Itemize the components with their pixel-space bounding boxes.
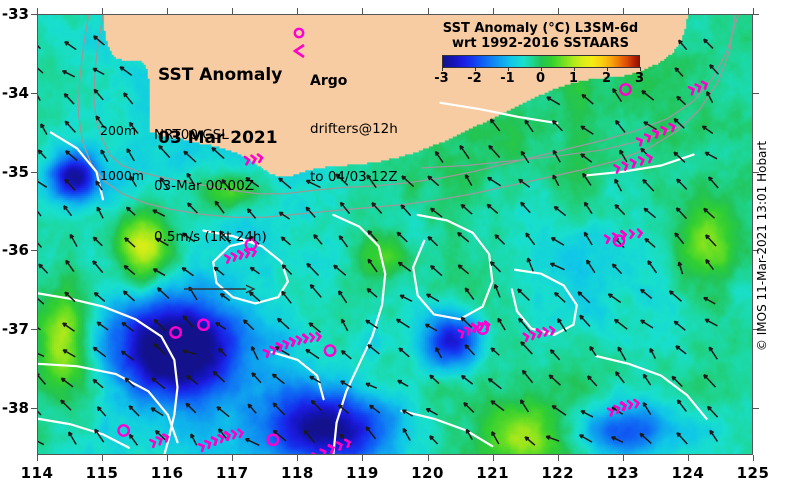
current-vector-arrow bbox=[466, 175, 472, 186]
current-vector-arrow bbox=[677, 179, 687, 189]
current-vector-arrow bbox=[650, 348, 655, 358]
x-tick bbox=[428, 455, 429, 461]
current-vector-arrow bbox=[311, 401, 321, 411]
drifter-track-chevron bbox=[459, 330, 463, 337]
current-vector-arrow bbox=[609, 294, 621, 302]
current-vector-arrow bbox=[38, 238, 41, 248]
current-vector-arrow bbox=[498, 318, 505, 330]
drifter-track-chevron bbox=[329, 445, 333, 452]
current-vector-arrow bbox=[151, 408, 163, 416]
current-vector-arrow bbox=[554, 207, 565, 216]
current-vector-arrow bbox=[129, 406, 139, 416]
current-vector-arrow bbox=[702, 126, 712, 133]
current-vector-arrow bbox=[709, 347, 717, 359]
sst-contour-4 bbox=[512, 270, 577, 335]
current-vector-arrow bbox=[551, 238, 564, 246]
current-vector-arrow bbox=[618, 347, 625, 360]
x-tick-top bbox=[232, 8, 233, 14]
x-tick-top bbox=[688, 8, 689, 14]
current-vector-arrow bbox=[93, 347, 105, 356]
current-vector-arrow bbox=[252, 373, 261, 383]
x-tick-label: 114 bbox=[21, 464, 54, 482]
current-vector-arrow bbox=[186, 403, 196, 413]
current-vector-arrow bbox=[550, 263, 564, 269]
current-vector-arrow bbox=[367, 289, 377, 298]
current-vector-arrow bbox=[38, 437, 44, 444]
x-tick bbox=[493, 455, 494, 461]
current-vector-arrow bbox=[401, 205, 411, 216]
current-vector-arrow bbox=[64, 206, 72, 216]
sst-contour-2 bbox=[333, 215, 385, 454]
current-vector-arrow bbox=[431, 266, 442, 276]
current-vector-arrow bbox=[366, 427, 375, 439]
current-vector-arrow bbox=[397, 232, 407, 242]
argo-float-marker-8 bbox=[118, 425, 128, 435]
current-vector-arrow bbox=[38, 322, 40, 330]
x-tick-top bbox=[623, 8, 624, 14]
current-vector-arrow bbox=[585, 202, 592, 213]
drifter-track-chevron bbox=[239, 430, 243, 437]
current-vector-arrow bbox=[553, 175, 559, 186]
current-vector-arrow bbox=[495, 284, 500, 297]
current-vector-arrow bbox=[428, 176, 439, 185]
current-vector-arrow bbox=[679, 40, 687, 49]
current-vector-arrow bbox=[674, 321, 685, 330]
drifter-track-chevron bbox=[472, 324, 476, 331]
current-vector-arrow bbox=[98, 407, 106, 416]
current-vector-arrow bbox=[641, 320, 653, 328]
current-legend-line2: 03-Mar 00:00Z bbox=[154, 178, 267, 195]
y-tick-right bbox=[753, 93, 759, 94]
current-vector-arrow bbox=[590, 347, 596, 356]
current-vector-arrow bbox=[587, 260, 595, 273]
argo-legend-line3: to 04/03 12Z bbox=[310, 169, 398, 185]
current-vector-arrow bbox=[38, 88, 40, 101]
drifter-track-chevron bbox=[639, 157, 643, 164]
current-vector-arrow bbox=[620, 150, 627, 162]
y-tick bbox=[31, 14, 37, 15]
current-vector-arrow bbox=[38, 405, 41, 415]
current-vector-arrow bbox=[38, 150, 46, 158]
current-vector-arrow bbox=[95, 429, 104, 442]
drifter-track-chevron bbox=[635, 400, 639, 407]
current-vector-arrow bbox=[342, 319, 348, 331]
current-vector-arrow bbox=[430, 375, 439, 383]
current-vector-arrow bbox=[93, 237, 102, 246]
drifter-track-chevron bbox=[212, 437, 216, 444]
current-vector-arrow bbox=[425, 324, 437, 330]
x-tick bbox=[297, 455, 298, 461]
colorbar-tick-label: 1 bbox=[569, 71, 578, 86]
current-vector-arrow bbox=[641, 289, 652, 298]
x-tick-top bbox=[493, 8, 494, 14]
drifter-track-chevron bbox=[317, 333, 321, 340]
current-vector-arrow bbox=[66, 260, 74, 271]
current-vector-arrow bbox=[527, 258, 533, 271]
x-tick-label: 125 bbox=[737, 464, 770, 482]
current-vector-arrow bbox=[152, 378, 165, 388]
current-vector-arrow bbox=[491, 401, 504, 411]
bathymetry-deep-label: 1000m bbox=[100, 168, 144, 183]
current-vector-arrow bbox=[465, 288, 474, 300]
argo-legend-line2: drifters@12h bbox=[310, 121, 398, 137]
y-tick-label: -36 bbox=[0, 241, 29, 259]
drifter-track-chevron bbox=[337, 442, 341, 449]
current-vector-arrow bbox=[677, 96, 686, 104]
current-vector-arrow bbox=[670, 291, 682, 301]
x-tick-label: 124 bbox=[672, 464, 705, 482]
x-tick bbox=[362, 455, 363, 461]
y-tick bbox=[31, 93, 37, 94]
drifter-track-chevron bbox=[689, 87, 693, 94]
sst-anomaly-figure: SST Anomaly 03 Mar 2021 Argo drifters@12… bbox=[0, 0, 791, 492]
y-tick bbox=[31, 408, 37, 409]
colorbar-tick-label: 3 bbox=[635, 71, 644, 86]
current-vector-arrow bbox=[704, 298, 715, 304]
current-vector-arrow bbox=[248, 404, 256, 413]
drifter-track-chevron bbox=[205, 441, 210, 448]
drifter-track-chevron bbox=[631, 160, 635, 167]
current-vector-arrow bbox=[307, 263, 319, 275]
current-vector-arrow bbox=[675, 233, 684, 244]
current-vector-arrow bbox=[154, 344, 165, 354]
colorbar-tick-label: -1 bbox=[500, 71, 514, 86]
current-legend-line1: NRT00 GSL bbox=[154, 127, 267, 144]
current-vector-arrow bbox=[368, 259, 377, 272]
x-tick-top bbox=[102, 8, 103, 14]
current-vector-arrow bbox=[252, 347, 258, 360]
current-vector-arrow bbox=[677, 208, 687, 219]
current-vector-arrow bbox=[426, 409, 437, 415]
drifter-track-chevron bbox=[622, 402, 626, 409]
colorbar-tick-label: -3 bbox=[434, 71, 448, 86]
y-tick-label: -34 bbox=[0, 84, 29, 102]
current-vector-arrow bbox=[93, 261, 103, 273]
current-vector-arrow bbox=[66, 151, 77, 161]
current-vector-arrow bbox=[125, 238, 135, 247]
current-vector-arrow bbox=[123, 291, 134, 301]
bathymetry-shallow-label: 200m bbox=[100, 123, 144, 138]
argo-float-marker-4 bbox=[268, 435, 278, 445]
x-tick-label: 118 bbox=[281, 464, 314, 482]
current-vector-arrow bbox=[93, 379, 103, 387]
x-tick bbox=[232, 455, 233, 461]
current-vector-arrow bbox=[487, 204, 498, 213]
y-tick-label: -38 bbox=[0, 399, 29, 417]
current-vector-arrow bbox=[464, 403, 474, 413]
current-vector-arrow bbox=[518, 289, 530, 300]
current-vector-arrow bbox=[400, 295, 412, 301]
current-vector-arrow bbox=[645, 239, 655, 248]
drifter-track-chevron bbox=[630, 230, 634, 237]
drifter-track-chevron bbox=[628, 401, 632, 408]
current-vector-arrow bbox=[65, 179, 75, 190]
current-vector-arrow bbox=[580, 315, 590, 326]
current-vector-arrow bbox=[705, 319, 717, 326]
drifter-track-8 bbox=[637, 124, 674, 145]
current-vector-arrow bbox=[549, 375, 560, 385]
current-vector-arrow bbox=[339, 236, 347, 247]
x-tick-top bbox=[167, 8, 168, 14]
current-vector-arrow bbox=[63, 350, 75, 357]
argo-float-marker-icon bbox=[295, 29, 303, 37]
current-vector-arrow bbox=[676, 346, 686, 354]
current-vector-arrow bbox=[462, 376, 473, 384]
current-vector-arrow bbox=[122, 323, 134, 332]
current-vector-arrow bbox=[65, 121, 75, 132]
current-vector-arrow bbox=[304, 430, 314, 442]
current-vector-arrow bbox=[581, 126, 593, 134]
current-vector-arrow bbox=[63, 323, 75, 331]
drifter-track-chevron bbox=[608, 409, 612, 416]
x-tick bbox=[558, 455, 559, 461]
current-vector-arrow bbox=[213, 371, 224, 382]
current-vector-arrow bbox=[435, 152, 442, 163]
x-tick-label: 123 bbox=[606, 464, 639, 482]
current-vector-arrow bbox=[398, 262, 410, 271]
current-vector-arrow bbox=[217, 407, 229, 417]
drifter-track-chevron bbox=[284, 341, 288, 348]
current-vector-arrow bbox=[41, 124, 47, 135]
current-vector-arrow bbox=[704, 209, 715, 219]
current-vector-arrow bbox=[616, 372, 625, 383]
current-vector-arrow bbox=[521, 202, 530, 212]
drifter-track-chevron-icon bbox=[295, 45, 304, 57]
current-vector-arrow bbox=[309, 323, 320, 332]
current-vector-arrow bbox=[460, 146, 469, 159]
x-tick-top bbox=[37, 8, 38, 14]
current-vector-arrow bbox=[616, 121, 625, 133]
argo-float-marker-3 bbox=[325, 345, 335, 355]
argo-legend: Argo drifters@12h to 04/03 12Z bbox=[310, 25, 398, 217]
current-vector-arrow bbox=[431, 208, 442, 217]
colorbar-title: SST Anomaly (°C) L3SM-6d wrt 1992-2016 S… bbox=[433, 21, 648, 51]
current-vector-arrow bbox=[580, 435, 592, 442]
current-vector-arrow bbox=[38, 38, 40, 49]
drifter-track-chevron bbox=[297, 337, 301, 344]
current-vector-arrow bbox=[526, 233, 535, 245]
current-vector-arrow bbox=[191, 434, 197, 445]
drifter-track-chevron bbox=[638, 230, 642, 237]
current-vector-arrow bbox=[678, 262, 682, 274]
current-vector-arrow bbox=[644, 208, 655, 217]
current-vector-arrow bbox=[281, 237, 290, 245]
current-vector-legend: NRT00 GSL 03-Mar 00:00Z 0.5m/s (1kt 24h) bbox=[154, 93, 267, 330]
y-tick-label: -33 bbox=[0, 5, 29, 23]
drifter-track-chevron bbox=[219, 435, 223, 442]
y-tick-right bbox=[753, 14, 759, 15]
current-vector-arrow bbox=[282, 291, 291, 303]
y-tick-right bbox=[753, 408, 759, 409]
colorbar-tick-label: 2 bbox=[602, 71, 611, 86]
current-vector-arrow bbox=[584, 232, 592, 245]
drifter-track-chevron bbox=[150, 440, 154, 447]
colorbar-tick-label: -2 bbox=[467, 71, 481, 86]
current-vector-arrow bbox=[38, 179, 47, 187]
current-vector-arrow bbox=[677, 433, 687, 444]
copyright-credit: © IMOS 11-Mar-2021 13:01 Hobart bbox=[755, 141, 769, 351]
map-title-line1: SST Anomaly bbox=[158, 65, 282, 86]
current-vector-arrow bbox=[368, 345, 379, 354]
current-vector-arrow bbox=[397, 319, 410, 327]
current-vector-arrow bbox=[219, 348, 226, 356]
drifter-track-chevron bbox=[647, 155, 651, 162]
drifter-track-chevron bbox=[321, 450, 326, 454]
x-tick-label: 116 bbox=[151, 464, 184, 482]
current-vector-arrow bbox=[334, 265, 346, 275]
x-tick-top bbox=[428, 8, 429, 14]
argo-legend-heading: Argo bbox=[310, 73, 398, 89]
current-vector-arrow bbox=[551, 350, 560, 360]
current-vector-arrow bbox=[64, 94, 74, 104]
current-vector-arrow bbox=[521, 400, 529, 412]
drifter-track-chevron bbox=[310, 334, 314, 341]
current-vector-arrow bbox=[370, 405, 380, 413]
drifter-track-chevron bbox=[290, 338, 294, 345]
drifter-track-chevron bbox=[304, 335, 308, 342]
sst-contour-9 bbox=[272, 352, 324, 399]
current-vector-arrow bbox=[341, 351, 351, 359]
drifter-track-chevron bbox=[345, 440, 349, 447]
current-vector-arrow bbox=[615, 179, 621, 191]
current-vector-arrow bbox=[643, 403, 650, 415]
current-vector-arrow bbox=[130, 434, 138, 445]
drifter-track-chevron bbox=[226, 432, 230, 439]
current-vector-arrow bbox=[430, 436, 438, 444]
current-vector-arrow bbox=[38, 351, 44, 356]
x-tick-label: 122 bbox=[541, 464, 574, 482]
drifter-track-chevron bbox=[702, 82, 706, 89]
x-tick bbox=[753, 455, 754, 461]
drifter-track-12 bbox=[689, 82, 706, 94]
drifter-track-chevron bbox=[199, 444, 204, 451]
current-vector-arrow bbox=[491, 348, 499, 355]
current-vector-arrow bbox=[94, 293, 104, 302]
current-vector-arrow bbox=[122, 351, 134, 360]
current-vector-arrow bbox=[525, 437, 535, 445]
current-vector-arrow bbox=[552, 406, 566, 416]
current-vector-arrow bbox=[65, 292, 75, 301]
current-vector-arrow bbox=[428, 237, 437, 246]
current-vector-arrow bbox=[124, 266, 135, 275]
colorbar-ticks: -3-2-10123 bbox=[442, 68, 640, 100]
current-vector-arrow bbox=[612, 264, 621, 274]
current-vector-arrow bbox=[640, 433, 651, 443]
x-tick-label: 117 bbox=[216, 464, 249, 482]
current-vector-arrow bbox=[120, 67, 132, 76]
current-vector-arrow bbox=[708, 406, 718, 417]
current-vector-arrow bbox=[710, 430, 717, 441]
drifter-track-chevron bbox=[623, 163, 627, 170]
current-vector-arrow bbox=[581, 154, 592, 162]
bathymetry-legend: 200m 1000m bbox=[100, 93, 144, 213]
current-vector-arrow bbox=[521, 151, 528, 163]
drifter-track-chevron bbox=[537, 329, 541, 336]
x-tick-top bbox=[362, 8, 363, 14]
colorbar-tick-label: 0 bbox=[536, 71, 545, 86]
current-vector-arrow bbox=[278, 318, 289, 328]
current-vector-arrow bbox=[39, 264, 48, 273]
current-vector-arrow bbox=[97, 322, 108, 330]
current-vector-arrow bbox=[578, 292, 590, 303]
x-tick-label: 121 bbox=[476, 464, 509, 482]
current-vector-arrow bbox=[521, 342, 532, 354]
current-vector-arrow bbox=[436, 348, 442, 358]
current-vector-arrow bbox=[61, 378, 73, 387]
current-vector-arrow bbox=[489, 146, 500, 158]
current-vector-arrow bbox=[492, 432, 499, 444]
current-vector-arrow bbox=[403, 429, 410, 441]
current-vector-arrow bbox=[183, 350, 196, 354]
current-vector-arrow bbox=[398, 380, 408, 386]
current-vector-arrow bbox=[495, 235, 504, 245]
current-vector-arrow bbox=[38, 373, 45, 384]
map-plot-area[interactable]: SST Anomaly 03 Mar 2021 Argo drifters@12… bbox=[37, 14, 753, 455]
current-vector-arrow bbox=[458, 233, 469, 242]
current-vector-arrow bbox=[643, 180, 654, 192]
x-tick-top bbox=[297, 8, 298, 14]
current-vector-arrow bbox=[704, 39, 713, 48]
x-tick bbox=[102, 455, 103, 461]
current-vector-arrow bbox=[615, 205, 625, 215]
current-vector-arrow bbox=[65, 42, 76, 50]
sst-contour-3 bbox=[413, 215, 492, 319]
current-vector-arrow bbox=[314, 235, 322, 245]
drifter-track-chevron bbox=[524, 334, 528, 341]
drifter-track-3 bbox=[313, 440, 350, 454]
drifter-track-chevron bbox=[530, 332, 534, 339]
sst-contour-12 bbox=[38, 419, 129, 448]
current-vector-arrow bbox=[38, 204, 41, 216]
x-tick bbox=[688, 455, 689, 461]
current-legend-line3: 0.5m/s (1kt 24h) bbox=[154, 229, 267, 246]
x-tick bbox=[37, 455, 38, 461]
current-vector-arrow bbox=[63, 71, 75, 77]
y-tick bbox=[31, 329, 37, 330]
current-vector-arrow bbox=[70, 235, 77, 247]
y-tick bbox=[31, 172, 37, 173]
y-tick bbox=[31, 250, 37, 251]
current-vector-arrow bbox=[546, 436, 559, 441]
current-vector-arrow bbox=[273, 403, 284, 415]
y-tick-label: -37 bbox=[0, 320, 29, 338]
current-vector-arrow bbox=[488, 177, 501, 185]
drifter-track-chevron bbox=[605, 236, 609, 243]
current-vector-arrow bbox=[675, 68, 683, 77]
current-scale-arrow-icon bbox=[184, 282, 262, 296]
current-vector-arrow bbox=[488, 379, 501, 389]
drifter-track-chevron bbox=[696, 85, 700, 92]
current-vector-arrow bbox=[461, 205, 472, 215]
current-vector-arrow bbox=[581, 411, 593, 417]
current-vector-arrow bbox=[402, 176, 414, 187]
current-vector-arrow bbox=[465, 345, 474, 355]
current-vector-arrow bbox=[69, 432, 76, 445]
current-vector-arrow bbox=[61, 400, 71, 410]
x-tick bbox=[167, 455, 168, 461]
current-vector-arrow bbox=[458, 265, 468, 274]
sst-contour-8 bbox=[51, 133, 103, 200]
current-vector-arrow bbox=[427, 294, 439, 301]
current-vector-arrow bbox=[310, 285, 321, 298]
sst-contour-11 bbox=[401, 411, 492, 446]
current-vector-arrow bbox=[615, 320, 628, 330]
current-vector-arrow bbox=[706, 235, 716, 246]
current-vector-arrow bbox=[705, 152, 717, 158]
colorbar-title-line2: wrt 1992-2016 SSTAARS bbox=[433, 36, 648, 51]
x-tick-top bbox=[558, 8, 559, 14]
x-tick-label: 119 bbox=[346, 464, 379, 482]
